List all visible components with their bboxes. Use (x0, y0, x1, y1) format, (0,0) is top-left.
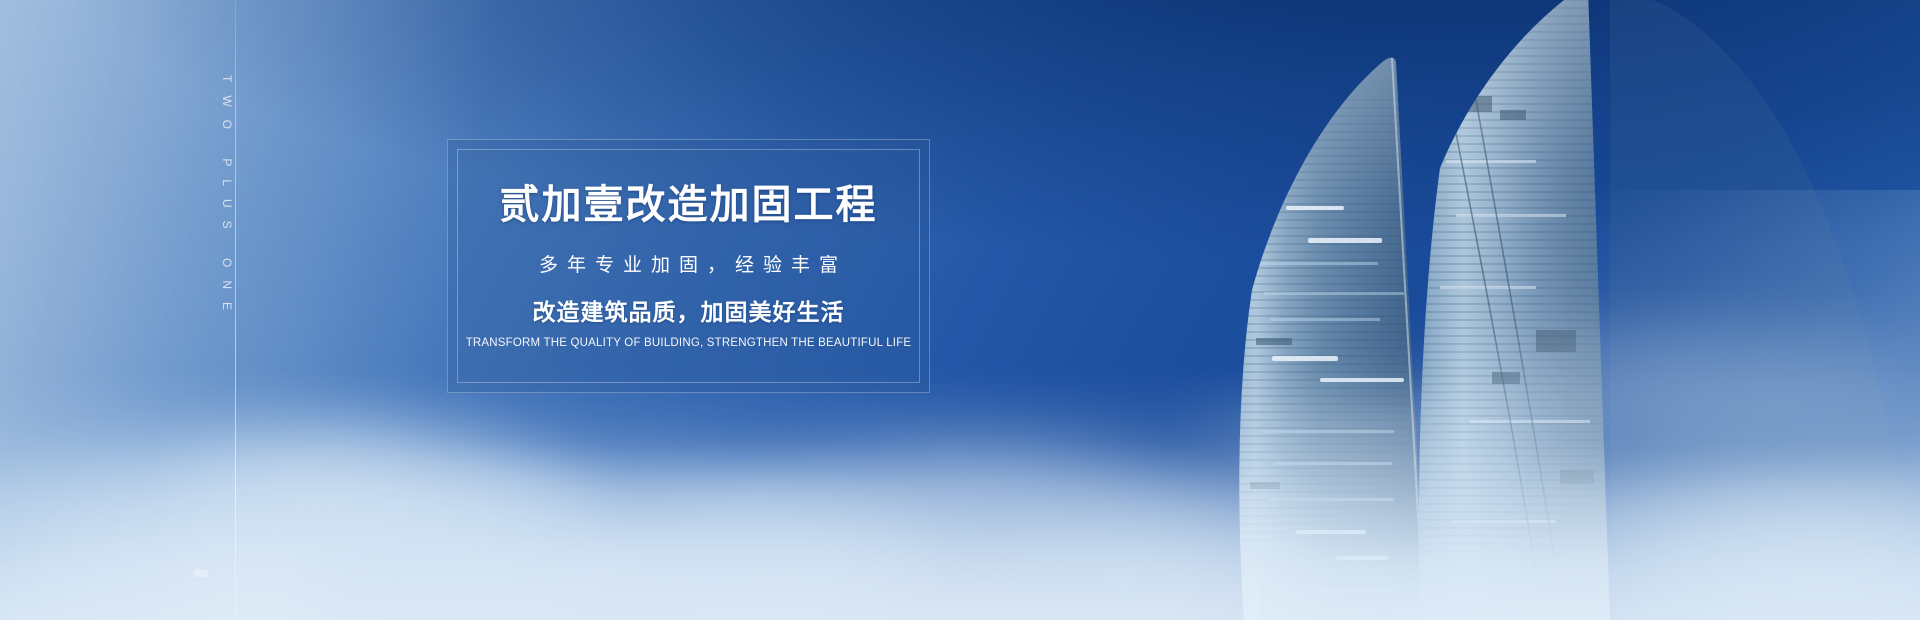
hero-slogan-english: TRANSFORM THE QUALITY OF BUILDING, STREN… (466, 338, 912, 350)
hero-banner: TWO PLUS ONE 贰加壹改造加固工程 多年专业加固，经验丰富 改造建筑品… (0, 0, 1920, 620)
corner-mark (194, 570, 208, 577)
cloud-layer (0, 290, 1920, 620)
horizon-haze-right (1260, 190, 1920, 620)
hero-subtitle: 多年专业加固，经验丰富 (530, 256, 847, 275)
hero-text-panel-inner-border: 贰加壹改造加固工程 多年专业加固，经验丰富 改造建筑品质，加固美好生活 TRAN… (457, 149, 920, 383)
hero-slogan: 改造建筑品质，加固美好生活 (533, 301, 845, 324)
brand-vertical-text: TWO PLUS ONE (220, 75, 234, 323)
page-title: 贰加壹改造加固工程 (500, 185, 878, 225)
vertical-divider-line (235, 0, 236, 620)
hero-text-panel: 贰加壹改造加固工程 多年专业加固，经验丰富 改造建筑品质，加固美好生活 TRAN… (447, 139, 930, 393)
brand-rail: TWO PLUS ONE (188, 0, 284, 620)
